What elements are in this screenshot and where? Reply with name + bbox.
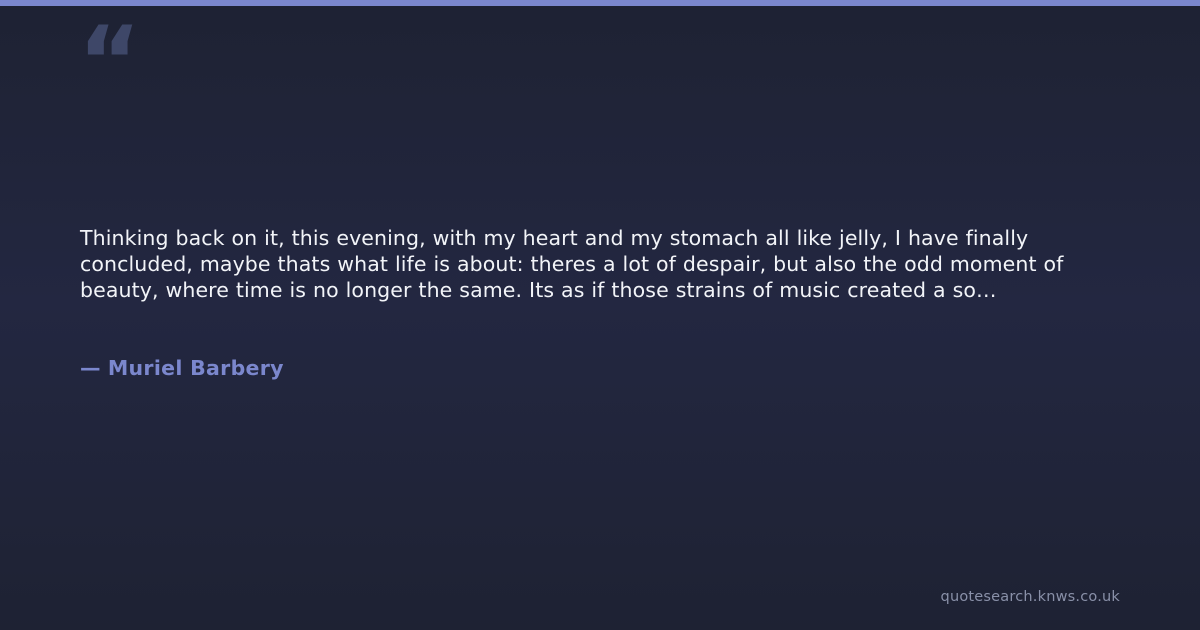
author-name: Muriel Barbery: [108, 356, 284, 380]
attribution-dash: —: [80, 356, 101, 380]
quote-card: “ Thinking back on it, this evening, wit…: [0, 0, 1200, 630]
opening-quotation-mark-icon: “: [78, 14, 139, 110]
site-watermark: quotesearch.knws.co.uk: [941, 588, 1120, 606]
quote-attribution: —Muriel Barbery: [80, 355, 284, 381]
top-accent-bar: [0, 0, 1200, 6]
quote-block: Thinking back on it, this evening, with …: [80, 226, 1125, 303]
quote-text: Thinking back on it, this evening, with …: [80, 226, 1125, 303]
